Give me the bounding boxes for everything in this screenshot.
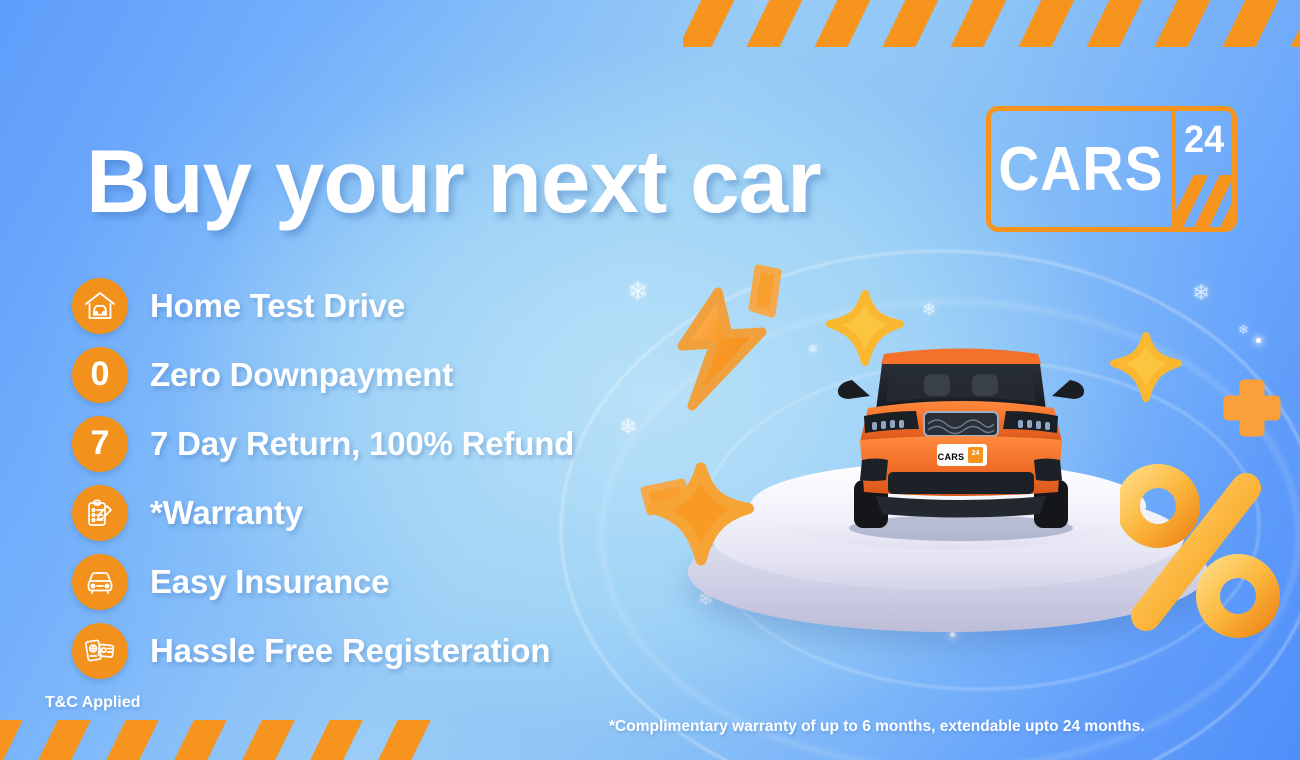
- feature-item-seven-day-return[interactable]: 7 7 Day Return, 100% Refund: [72, 410, 574, 478]
- star-icon: [648, 462, 754, 566]
- feature-item-home-test-drive[interactable]: Home Test Drive: [72, 272, 574, 340]
- terms-note: T&C Applied: [45, 694, 140, 712]
- zero-icon: 0: [72, 347, 128, 403]
- cars24-logo[interactable]: CARS 24: [986, 106, 1237, 232]
- plus-shape-icon: [1222, 378, 1282, 438]
- logo-stripes: [1176, 175, 1232, 227]
- hero-scene: CARS 24: [600, 250, 1300, 690]
- documents-icon: [72, 623, 128, 679]
- license-plate-suffix: 24: [972, 450, 980, 457]
- clipboard-pen-icon: [72, 485, 128, 541]
- seven-icon: 7: [72, 416, 128, 472]
- star-icon: [1110, 332, 1182, 402]
- feature-label: Hassle Free Registeration: [150, 632, 550, 670]
- feature-item-easy-insurance[interactable]: Easy Insurance: [72, 548, 574, 616]
- logo-wordmark-wrap: CARS: [991, 111, 1171, 227]
- home-car-icon: [72, 278, 128, 334]
- logo-wordmark: CARS: [998, 134, 1163, 205]
- feature-label: Home Test Drive: [150, 287, 405, 325]
- promo-banner: ❄ ❄ ❄ ❄ ❄ ❄ ❄ ❄: [0, 0, 1300, 760]
- license-plate-text: CARS: [938, 452, 965, 462]
- bolt-fragment-icon: [742, 264, 790, 322]
- corner-stripes-top-right: [683, 0, 1300, 47]
- car-front-icon: [72, 554, 128, 610]
- feature-label: 7 Day Return, 100% Refund: [150, 425, 574, 463]
- page-title: Buy your next car: [86, 137, 821, 226]
- feature-label: *Warranty: [150, 494, 303, 532]
- feature-list: Home Test Drive 0 Zero Downpayment 7 7 D…: [72, 272, 574, 686]
- logo-suffix: 24: [1184, 119, 1224, 162]
- corner-stripes-bottom-left: [0, 720, 432, 760]
- logo-suffix-wrap: 24: [1171, 111, 1232, 227]
- feature-item-warranty[interactable]: *Warranty: [72, 479, 574, 547]
- feature-label: Zero Downpayment: [150, 356, 453, 394]
- suv-vehicle: CARS 24: [832, 330, 1090, 545]
- warranty-disclaimer: *Complimentary warranty of up to 6 month…: [609, 718, 1145, 736]
- feature-item-registration[interactable]: Hassle Free Registeration: [72, 617, 574, 685]
- feature-label: Easy Insurance: [150, 563, 389, 601]
- percent-symbol-icon: [1120, 464, 1280, 642]
- feature-item-zero-downpayment[interactable]: 0 Zero Downpayment: [72, 341, 574, 409]
